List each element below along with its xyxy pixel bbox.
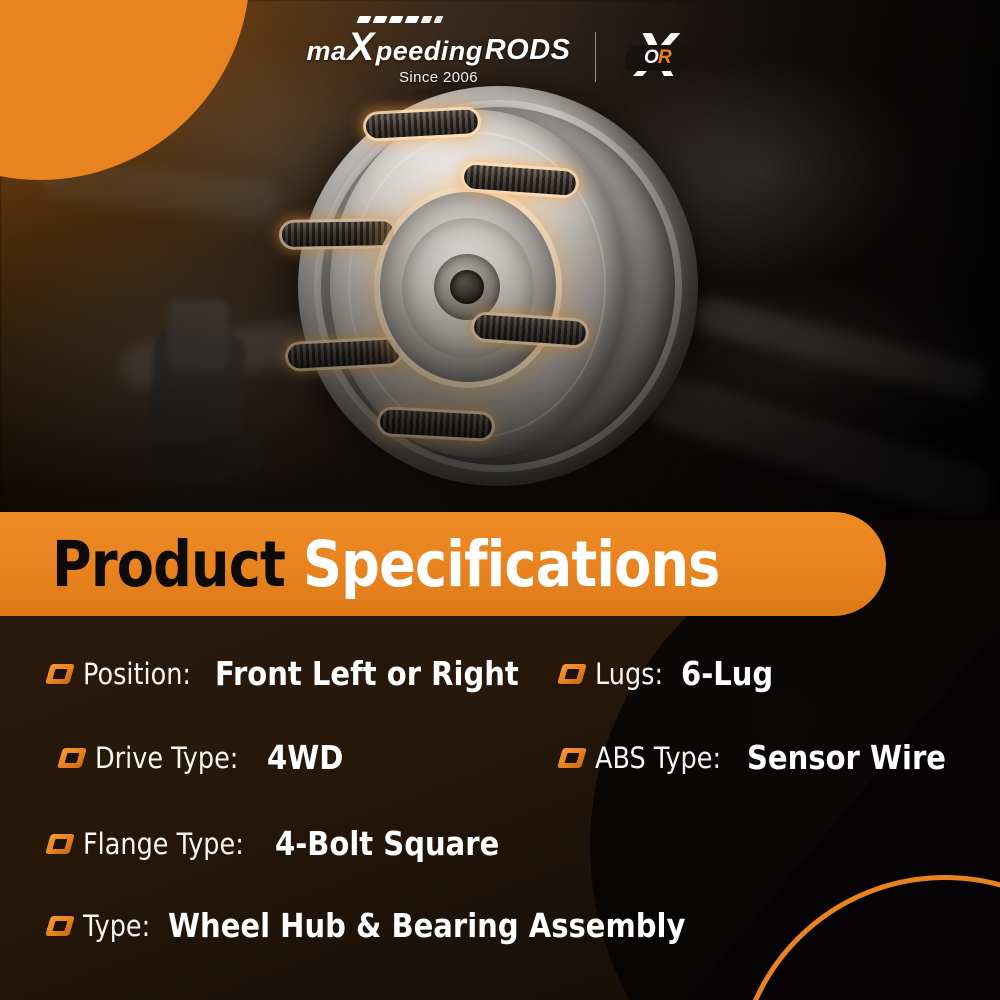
spec-value-type: Wheel Hub & Bearing Assembly xyxy=(168,906,685,945)
bullet-parallelogram-icon xyxy=(48,834,72,854)
bullet-parallelogram-icon xyxy=(48,664,72,684)
spec-value-lugs: 6-Lug xyxy=(681,654,773,693)
brand-wordmark: ma X peeding RODS xyxy=(306,29,570,66)
spec-label-drive-type: Drive Type: xyxy=(95,741,238,775)
bullet-parallelogram-icon xyxy=(60,748,84,768)
or-x-logo[interactable]: X OR xyxy=(620,28,694,86)
spec-value-abs-type: Sensor Wire xyxy=(747,738,946,777)
brand-tagline: Since 2006 xyxy=(399,70,478,85)
spec-row-abs-type: ABS Type: Sensor Wire xyxy=(560,738,973,777)
brand-text-peeding: peeding xyxy=(376,38,483,65)
page-title-word-1: Product xyxy=(52,528,285,601)
brand-text-ma: ma xyxy=(306,38,346,65)
page-title: Product Specifications xyxy=(52,528,720,601)
spec-label-position: Position: xyxy=(83,657,191,691)
maxpeedingrods-logo[interactable]: ma X peeding RODS Since 2006 xyxy=(306,29,570,86)
spec-value-position: Front Left or Right xyxy=(215,654,519,693)
bullet-parallelogram-icon xyxy=(48,916,72,936)
section-title-banner: Product Specifications xyxy=(0,512,886,616)
page-title-word-2: Specifications xyxy=(303,528,720,601)
bullet-parallelogram-icon xyxy=(560,664,584,684)
spec-value-drive-type: 4WD xyxy=(267,738,343,777)
or-letter-r: R xyxy=(657,47,670,69)
spec-row-drive-type: Drive Type: 4WD xyxy=(60,738,354,777)
bullet-parallelogram-icon xyxy=(560,748,584,768)
or-badge: OR xyxy=(623,45,691,71)
spec-row-lugs: Lugs: 6-Lug xyxy=(560,654,786,693)
product-hero-image: ma X peeding RODS Since 2006 X OR xyxy=(0,0,1000,520)
brand-text-rods: RODS xyxy=(485,36,571,65)
spec-value-flange-type: 4-Bolt Square xyxy=(275,824,499,863)
logo-divider xyxy=(595,32,596,82)
speed-lines-icon xyxy=(357,16,444,23)
product-spec-banner: ma X peeding RODS Since 2006 X OR xyxy=(0,0,1000,1000)
spec-row-flange-type: Flange Type: 4-Bolt Square xyxy=(48,824,530,863)
spec-label-abs-type: ABS Type: xyxy=(595,741,721,775)
brand-logo-bar: ma X peeding RODS Since 2006 X OR xyxy=(0,24,1000,90)
spec-label-type: Type: xyxy=(83,909,150,943)
spec-row-position: Position: Front Left or Right xyxy=(48,654,560,693)
spec-label-flange-type: Flange Type: xyxy=(83,827,244,861)
or-letter-o: O xyxy=(643,47,657,69)
brand-text-x: X xyxy=(348,29,375,66)
spec-label-lugs: Lugs: xyxy=(595,657,663,691)
spec-row-type: Type: Wheel Hub & Bearing Assembly xyxy=(48,906,756,945)
